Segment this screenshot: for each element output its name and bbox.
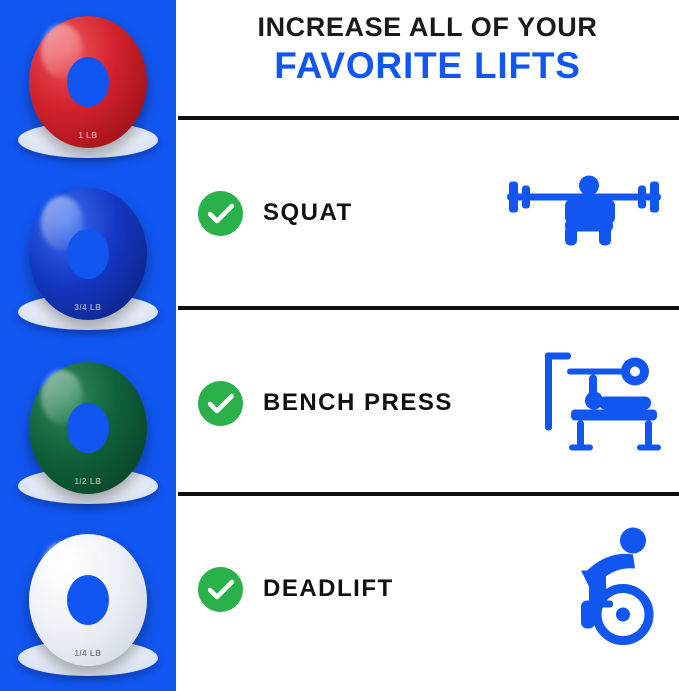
fractional-plate-green [29, 362, 147, 494]
check-icon [198, 381, 243, 426]
plate-item: 1 LB [0, 0, 176, 172]
plate-weight-label: 1/4 LB [29, 649, 147, 658]
fractional-plate-blue [29, 188, 147, 320]
lift-row-squat: SQUAT [176, 120, 679, 306]
headline-line-1: INCREASE ALL OF YOUR [176, 10, 679, 44]
bench-icon [537, 347, 665, 460]
promo-graphic: 1 LB 3/4 LB 1/2 LB [0, 0, 679, 691]
plate-weight-label: 1 LB [29, 131, 147, 140]
check-icon [198, 567, 243, 612]
fractional-plate-red [29, 16, 147, 148]
product-image-column: 1 LB 3/4 LB 1/2 LB [0, 0, 176, 691]
squat-icon [503, 174, 665, 253]
plate-weight-label: 3/4 LB [29, 303, 147, 312]
plate-ring-wrap: 1 LB [29, 16, 147, 148]
plate-gloss [41, 542, 83, 596]
plate-item: 1/4 LB [0, 518, 176, 690]
plate-item: 1/2 LB [0, 346, 176, 518]
headline-block: INCREASE ALL OF YOUR FAVORITE LIFTS [176, 0, 679, 116]
lift-label: SQUAT [263, 199, 353, 227]
plate-gloss [41, 24, 83, 78]
lift-label: BENCH PRESS [263, 389, 453, 417]
headline-line-2: FAVORITE LIFTS [176, 44, 679, 88]
deadlift-icon [561, 527, 665, 652]
plate-ring-wrap: 1/2 LB [29, 362, 147, 494]
content-column: INCREASE ALL OF YOUR FAVORITE LIFTS SQUA… [176, 0, 679, 691]
plate-gloss [41, 196, 83, 250]
plate-weight-label: 1/2 LB [29, 477, 147, 486]
lift-row-deadlift: DEADLIFT [176, 496, 679, 682]
plate-item: 3/4 LB [0, 172, 176, 344]
lift-row-bench-press: BENCH PRESS [176, 310, 679, 496]
plate-gloss [41, 370, 83, 424]
check-icon [198, 191, 243, 236]
lift-label: DEADLIFT [263, 575, 394, 603]
plate-ring-wrap: 3/4 LB [29, 188, 147, 320]
fractional-plate-white [29, 534, 147, 666]
plate-ring-wrap: 1/4 LB [29, 534, 147, 666]
